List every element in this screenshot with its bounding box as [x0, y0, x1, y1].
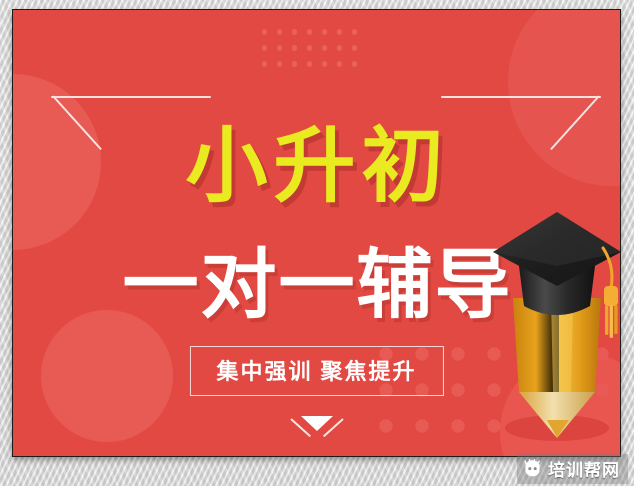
- banner-image: 小升初 一对一辅导 集中强训 聚焦提升: [0, 0, 634, 486]
- watermark-text: 培训帮网: [548, 456, 620, 481]
- chevron-down-icon: [289, 412, 345, 446]
- decorative-circle-bottom-left: [41, 310, 173, 442]
- red-banner-card: 小升初 一对一辅导 集中强训 聚焦提升: [12, 9, 621, 457]
- chevron-triangle: [301, 416, 333, 431]
- bracket-horizontal-line: [441, 96, 601, 98]
- dot-grid-small: [255, 22, 363, 70]
- sun-face-icon: [523, 459, 542, 478]
- subtitle-text: 集中强训 聚焦提升: [216, 354, 416, 386]
- subtitle-box: 集中强训 聚焦提升: [189, 346, 443, 396]
- pencil-graduation-cap-icon: [491, 206, 621, 446]
- watermark: 培训帮网: [517, 454, 628, 484]
- headline-primary: 小升初: [13, 126, 621, 208]
- bracket-horizontal-line: [51, 96, 211, 98]
